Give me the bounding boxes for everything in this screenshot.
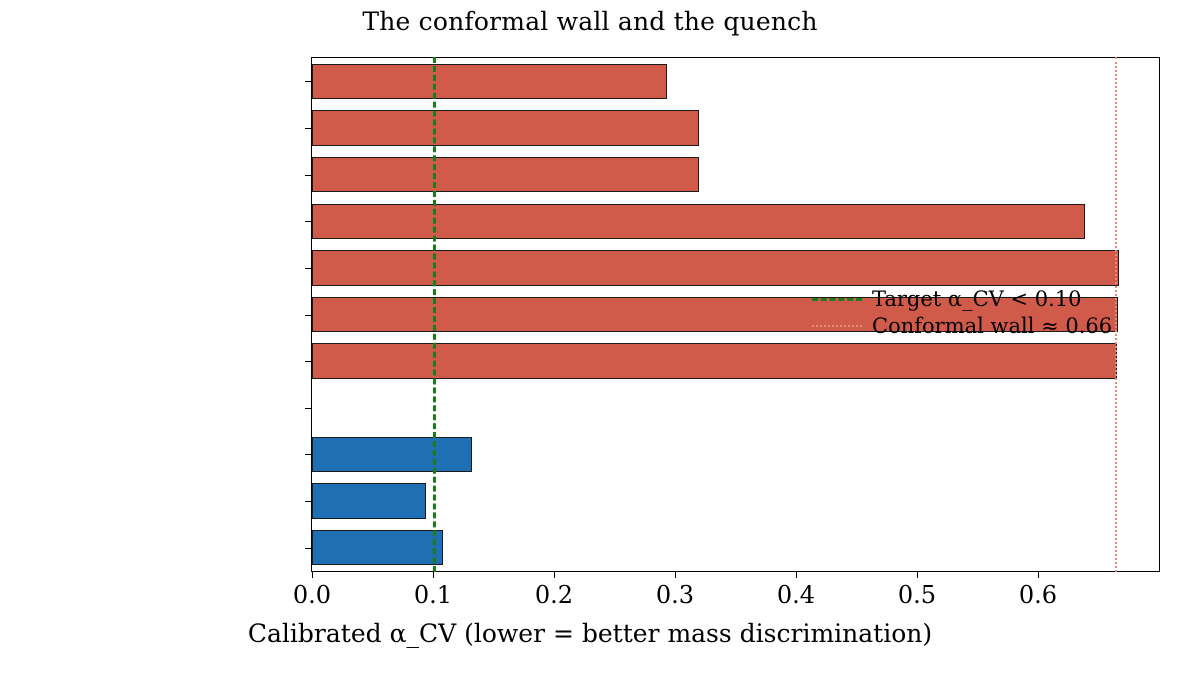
x-tick-label: 0.0 — [267, 581, 357, 609]
reference-line-target — [433, 57, 436, 572]
x-tick-mark — [312, 571, 313, 578]
y-tick-mark — [305, 268, 312, 269]
x-tick-mark — [554, 571, 555, 578]
y-tick-mark — [305, 128, 312, 129]
x-tick-mark — [675, 571, 676, 578]
bar — [312, 110, 699, 145]
chart-figure: The conformal wall and the quench LayerN… — [0, 0, 1180, 680]
bar — [312, 64, 667, 99]
x-tick-label: 0.1 — [388, 581, 478, 609]
y-tick-mark — [305, 501, 312, 502]
dotted-line-icon — [812, 319, 862, 333]
y-tick-mark — [305, 454, 312, 455]
bar — [312, 157, 699, 192]
bar — [312, 530, 443, 565]
x-axis-title: Calibrated α_CV (lower = better mass dis… — [0, 618, 1180, 650]
y-tick-mark — [305, 408, 312, 409]
x-tick-label: 0.2 — [509, 581, 599, 609]
x-tick-label: 0.5 — [872, 581, 962, 609]
x-tick-mark — [796, 571, 797, 578]
y-tick-mark — [305, 175, 312, 176]
x-tick-mark — [917, 571, 918, 578]
legend-label-conformal-wall: Conformal wall ≈ 0.66 — [872, 315, 1112, 337]
bar — [312, 483, 426, 518]
legend-item-conformal-wall: Conformal wall ≈ 0.66 — [812, 312, 1157, 339]
legend-label-target: Target α_CV < 0.10 — [872, 288, 1082, 310]
y-tick-mark — [305, 81, 312, 82]
legend-item-target: Target α_CV < 0.10 — [812, 285, 1157, 312]
x-tick-label: 0.3 — [630, 581, 720, 609]
y-tick-mark — [305, 361, 312, 362]
x-tick-label: 0.4 — [751, 581, 841, 609]
y-tick-mark — [305, 548, 312, 549]
bar — [312, 437, 472, 472]
x-tick-mark — [433, 571, 434, 578]
y-tick-mark — [305, 221, 312, 222]
x-tick-label: 0.6 — [993, 581, 1083, 609]
chart-legend: Target α_CV < 0.10 Conformal wall ≈ 0.66 — [812, 285, 1157, 339]
bar — [312, 204, 1085, 239]
chart-title: The conformal wall and the quench — [0, 6, 1180, 38]
x-tick-mark — [1038, 571, 1039, 578]
dashed-line-icon — [812, 292, 862, 306]
y-tick-mark — [305, 315, 312, 316]
